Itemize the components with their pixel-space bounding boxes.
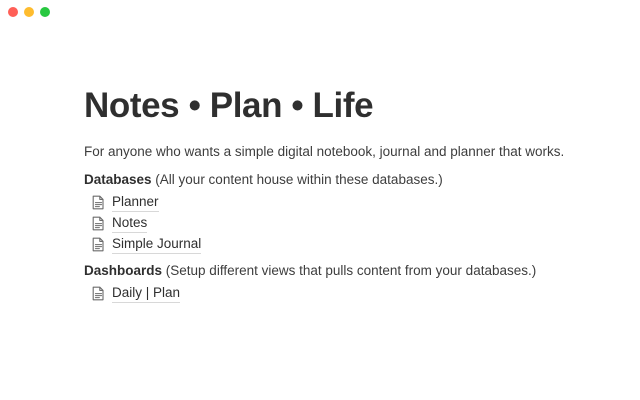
list-item-label[interactable]: Simple Journal <box>112 235 201 254</box>
window-titlebar <box>0 0 640 24</box>
list-item-label[interactable]: Notes <box>112 214 147 233</box>
traffic-light-group <box>0 7 50 17</box>
page-intro-text: For anyone who wants a simple digital no… <box>84 127 584 162</box>
section-note: (Setup different views that pulls conten… <box>162 263 536 278</box>
minimize-window-button[interactable] <box>24 7 34 17</box>
page-content: Notes • Plan • Life For anyone who wants… <box>84 40 584 302</box>
page-title: Notes • Plan • Life <box>84 40 584 127</box>
list-item-label[interactable]: Planner <box>112 193 159 212</box>
close-window-button[interactable] <box>8 7 18 17</box>
list-item-label[interactable]: Daily | Plan <box>112 284 180 303</box>
section-heading-dashboards: Dashboards (Setup different views that p… <box>84 253 584 281</box>
document-icon <box>92 237 105 252</box>
list-item[interactable]: Planner <box>84 190 584 211</box>
section-label: Databases <box>84 172 152 187</box>
document-icon <box>92 195 105 210</box>
maximize-window-button[interactable] <box>40 7 50 17</box>
database-link-list: Planner Notes <box>84 190 584 253</box>
section-label: Dashboards <box>84 263 162 278</box>
list-item[interactable]: Daily | Plan <box>84 281 584 302</box>
dashboard-link-list: Daily | Plan <box>84 281 584 302</box>
document-icon <box>92 216 105 231</box>
list-item[interactable]: Simple Journal <box>84 232 584 253</box>
section-note: (All your content house within these dat… <box>152 172 443 187</box>
section-heading-databases: Databases (All your content house within… <box>84 162 584 190</box>
document-icon <box>92 286 105 301</box>
app-window: Notes • Plan • Life For anyone who wants… <box>0 0 640 400</box>
list-item[interactable]: Notes <box>84 211 584 232</box>
